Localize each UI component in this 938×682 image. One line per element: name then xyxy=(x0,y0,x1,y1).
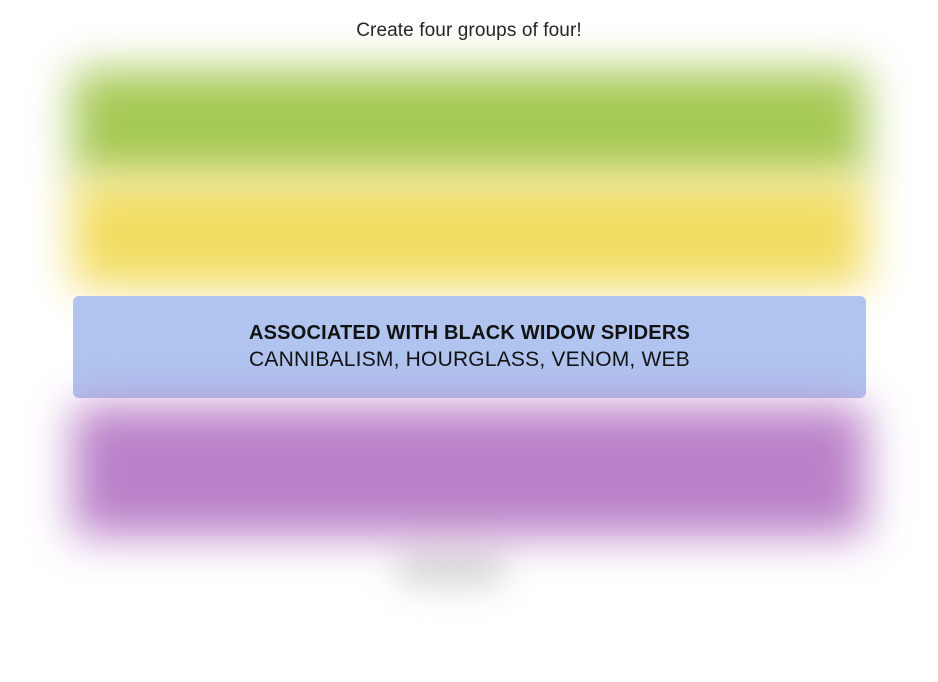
solved-row-blue: ASSOCIATED WITH BLACK WIDOW SPIDERS CANN… xyxy=(73,296,866,398)
connections-game-screen: Create four groups of four! ASSOCIATED W… xyxy=(0,0,938,682)
solved-row-green xyxy=(73,70,866,178)
page-title: Create four groups of four! xyxy=(0,18,938,44)
solved-row-yellow xyxy=(73,180,866,288)
solved-row-purple xyxy=(73,406,866,536)
solved-row-blue-title: ASSOCIATED WITH BLACK WIDOW SPIDERS xyxy=(249,320,690,346)
blurred-action-button[interactable] xyxy=(396,552,506,586)
solved-row-blue-members: CANNIBALISM, HOURGLASS, VENOM, WEB xyxy=(249,346,690,374)
puzzle-board: ASSOCIATED WITH BLACK WIDOW SPIDERS CANN… xyxy=(0,62,938,622)
